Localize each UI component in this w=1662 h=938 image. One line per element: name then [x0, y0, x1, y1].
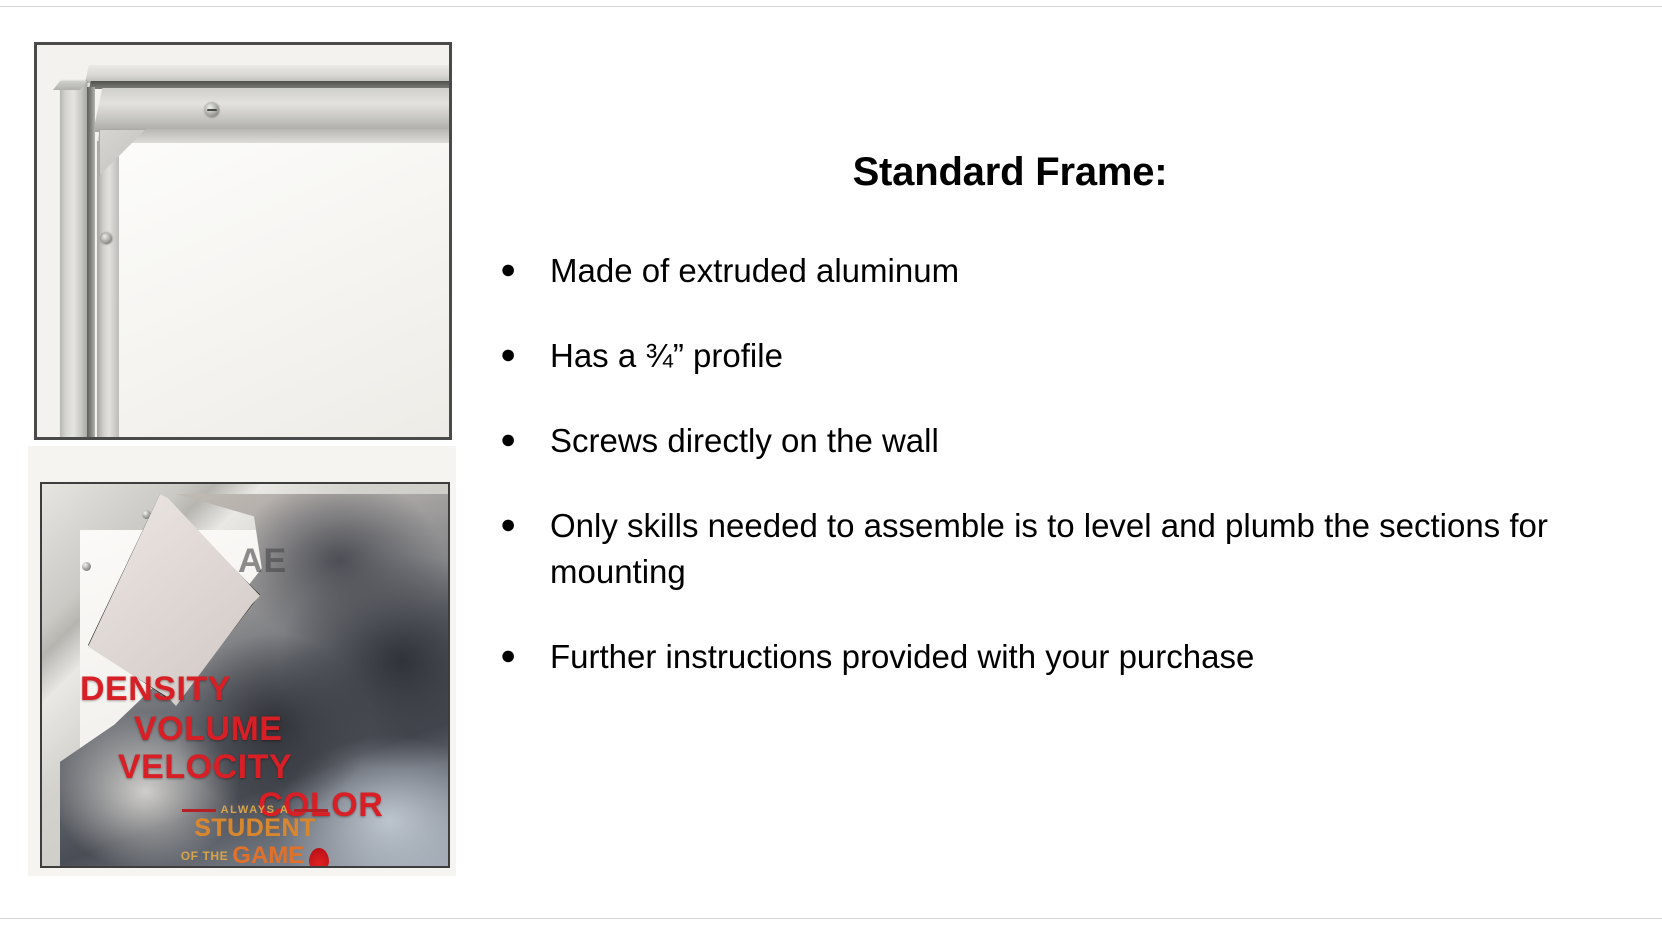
logo-sub-small: OF THE: [181, 849, 229, 863]
frame-screw-side-icon: [101, 233, 112, 244]
list-item: ● Screws directly on the wall: [488, 418, 1648, 465]
graphic-word-velocity: VELOCITY: [118, 748, 292, 787]
logo-sub-large: GAME: [232, 842, 304, 869]
photo-column: AE DENSITY VOLUME VELOCITY COLOR ALWAYS …: [0, 38, 470, 878]
flame-icon: [309, 848, 329, 869]
list-item-label: Screws directly on the wall: [550, 418, 1632, 465]
bullet-dot-icon: ●: [488, 248, 550, 291]
frame-left-reveal: [87, 87, 95, 437]
list-item-label: Further instructions provided with your …: [550, 634, 1632, 681]
list-item: ● Made of extruded aluminum: [488, 248, 1648, 295]
frame-top-rail-inner: [97, 129, 452, 143]
bullet-dot-icon: ●: [488, 503, 550, 546]
graphic-word-volume: VOLUME: [134, 710, 282, 749]
student-of-the-game-logo: ALWAYS A STUDENT OF THE GAME: [160, 804, 350, 868]
list-item: ● Has a ¾” profile: [488, 333, 1648, 380]
feature-bullet-list: ● Made of extruded aluminum ● Has a ¾” p…: [488, 248, 1648, 719]
content-column: Standard Frame: ● Made of extruded alumi…: [470, 0, 1662, 938]
list-item-label: Only skills needed to assemble is to lev…: [550, 503, 1632, 597]
logo-rule-right-icon: [294, 809, 328, 812]
frame-inner-jamb: [97, 141, 119, 437]
slide-canvas: AE DENSITY VOLUME VELOCITY COLOR ALWAYS …: [0, 0, 1662, 938]
bullet-dot-icon: ●: [488, 333, 550, 376]
insert-screw-left-icon: [82, 562, 91, 571]
list-item-label: Has a ¾” profile: [550, 333, 1632, 380]
slide-bottom-divider: [0, 918, 1662, 919]
list-item: ● Only skills needed to assemble is to l…: [488, 503, 1648, 597]
bullet-dot-icon: ●: [488, 634, 550, 677]
graphic-insert-photo: AE DENSITY VOLUME VELOCITY COLOR ALWAYS …: [28, 446, 456, 876]
frame-left-stile: [60, 81, 87, 437]
graphic-ghost-text: AE: [238, 542, 287, 581]
logo-rule-left-icon: [182, 809, 216, 812]
list-item-label: Made of extruded aluminum: [550, 248, 1632, 295]
insert-frame-outer: AE DENSITY VOLUME VELOCITY COLOR ALWAYS …: [40, 482, 450, 868]
frame-screw-top-icon: [205, 103, 219, 117]
graphic-word-density: DENSITY: [80, 670, 231, 709]
page-title: Standard Frame:: [470, 150, 1550, 195]
bullet-dot-icon: ●: [488, 418, 550, 461]
logo-sub-row: OF THE GAME: [160, 842, 350, 869]
logo-main-word: STUDENT: [160, 816, 350, 842]
frame-corner-photo: [34, 42, 452, 440]
frame-top-rail-face: [93, 88, 452, 132]
frame-interior-board: [109, 107, 449, 437]
list-item: ● Further instructions provided with you…: [488, 634, 1648, 681]
